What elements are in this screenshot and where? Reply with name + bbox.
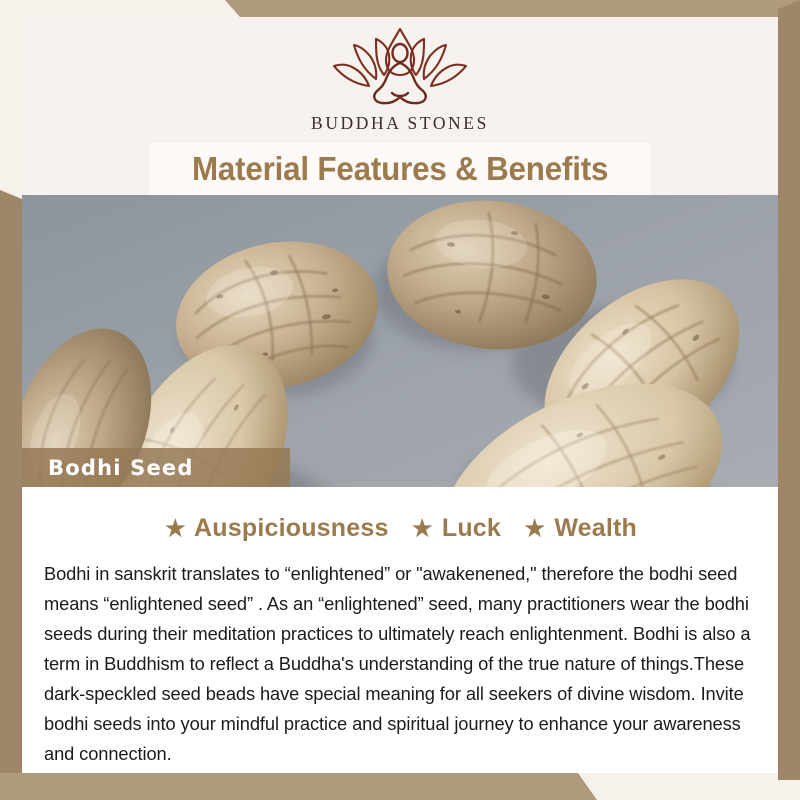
- photo-caption-label: Bodhi Seed: [48, 456, 194, 480]
- description-panel: ★ Auspiciousness ★ Luck ★ Wealth Bodhi i…: [22, 487, 778, 773]
- benefits-line: ★ Auspiciousness ★ Luck ★ Wealth: [22, 514, 778, 543]
- photo-caption-bar: Bodhi Seed: [22, 448, 290, 487]
- bottom-frame-accent: [0, 773, 800, 800]
- star-icon: ★: [522, 515, 547, 541]
- bodhi-seed-photo: [22, 195, 778, 487]
- top-frame-accent: [0, 0, 800, 17]
- benefit-label-1: Luck: [442, 514, 501, 542]
- benefit-label-2: Wealth: [554, 514, 637, 542]
- lotus-meditation-icon: [314, 23, 486, 112]
- description-text: Bodhi in sanskrit translates to “enlight…: [44, 559, 756, 769]
- benefit-label-0: Auspiciousness: [194, 514, 389, 542]
- brand-logo: BUDDHA STONES: [300, 23, 500, 128]
- left-frame-accent: [0, 190, 22, 773]
- right-frame-accent: [778, 0, 800, 780]
- title-banner: Material Features & Benefits: [150, 143, 650, 195]
- infographic-page: BUDDHA STONES Material Features & Benefi…: [0, 0, 800, 800]
- star-icon: ★: [410, 515, 435, 541]
- star-icon: ★: [163, 515, 188, 541]
- page-title: Material Features & Benefits: [192, 150, 608, 188]
- brand-name: BUDDHA STONES: [311, 113, 489, 134]
- header: BUDDHA STONES Material Features & Benefi…: [22, 17, 778, 195]
